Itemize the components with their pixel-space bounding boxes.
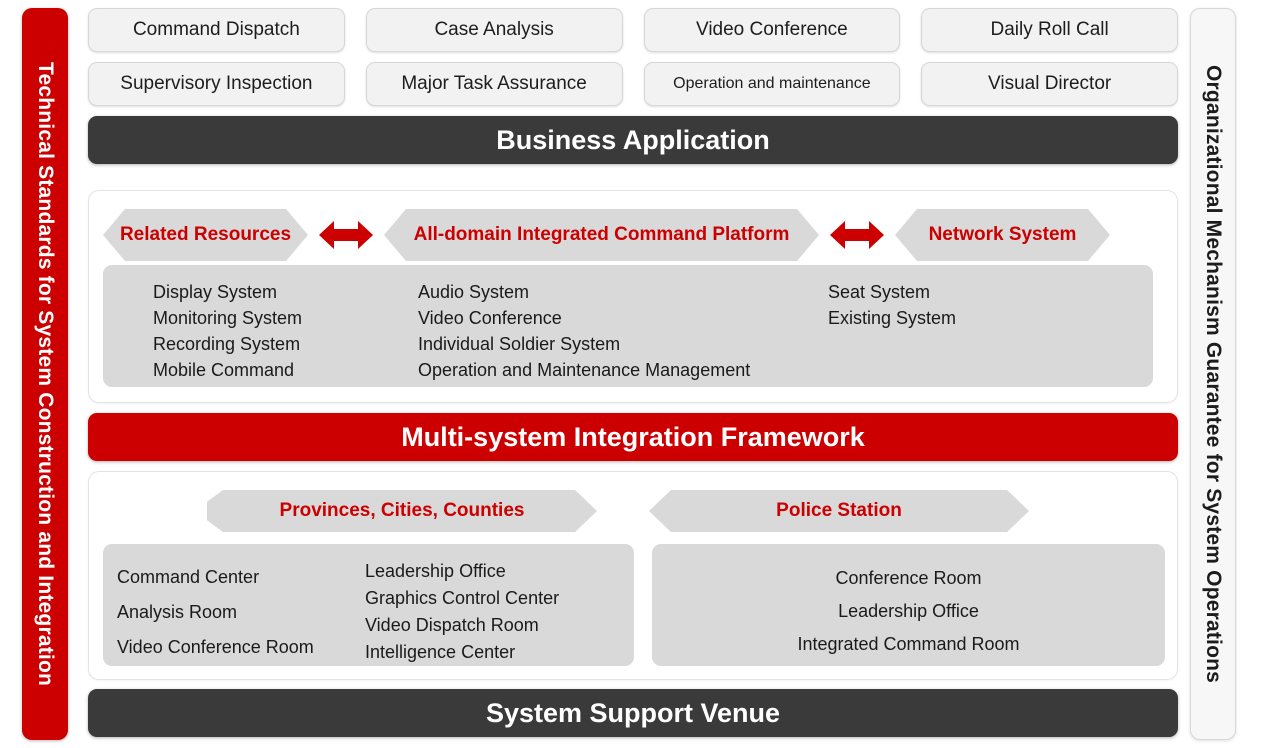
right-banner-label: Organizational Mechanism Guarantee for S… — [1201, 65, 1225, 683]
tag-provinces-cities-counties[interactable]: Provinces, Cities, Counties — [207, 490, 597, 532]
list-item: Display System — [153, 279, 302, 305]
list-item: Intelligence Center — [365, 639, 559, 666]
left-vertical-banner: Technical Standards for System Construct… — [22, 8, 68, 740]
arrow-slot-right — [819, 218, 895, 252]
platform-systems-card: Display System Monitoring System Recordi… — [103, 265, 1153, 387]
list-item: Leadership Office — [838, 595, 979, 628]
left-banner-label: Technical Standards for System Construct… — [33, 62, 57, 686]
list-item: Leadership Office — [365, 558, 559, 585]
tag-all-domain-platform[interactable]: All-domain Integrated Command Platform — [384, 209, 819, 261]
list-item: Conference Room — [835, 562, 981, 595]
list-item: Video Conference Room — [117, 630, 314, 665]
list-item: Command Center — [117, 560, 314, 595]
list-item: Operation and Maintenance Management — [418, 357, 750, 383]
list-item: Recording System — [153, 331, 302, 357]
list-item: Existing System — [828, 305, 956, 331]
tag-police-station[interactable]: Police Station — [649, 490, 1029, 532]
band-multi-system-framework: Multi-system Integration Framework — [88, 413, 1178, 461]
tag-related-resources[interactable]: Related Resources — [103, 209, 308, 261]
platform-column-2: Audio System Video Conference Individual… — [418, 279, 750, 383]
chip-daily-roll-call[interactable]: Daily Roll Call — [921, 8, 1178, 52]
list-item: Video Dispatch Room — [365, 612, 559, 639]
double-arrow-icon-right — [830, 218, 884, 252]
chip-visual-director[interactable]: Visual Director — [921, 62, 1178, 106]
platform-section-panel: Related Resources All-domain Integrated … — [88, 190, 1178, 403]
chip-operation-and-maintenance[interactable]: Operation and maintenance — [644, 62, 901, 106]
right-vertical-banner: Organizational Mechanism Guarantee for S… — [1190, 8, 1236, 740]
list-item: Graphics Control Center — [365, 585, 559, 612]
chip-major-task-assurance[interactable]: Major Task Assurance — [366, 62, 623, 106]
platform-tag-row: Related Resources All-domain Integrated … — [103, 209, 1165, 261]
tag-network-system[interactable]: Network System — [895, 209, 1110, 261]
list-item: Analysis Room — [117, 595, 314, 630]
venue-right-column: Conference Room Leadership Office Integr… — [652, 562, 1165, 661]
platform-column-1: Display System Monitoring System Recordi… — [153, 279, 302, 383]
arrow-slot-left — [308, 218, 384, 252]
chip-command-dispatch[interactable]: Command Dispatch — [88, 8, 345, 52]
list-item: Video Conference — [418, 305, 750, 331]
platform-systems-columns: Display System Monitoring System Recordi… — [103, 277, 1153, 387]
list-item: Individual Soldier System — [418, 331, 750, 357]
double-arrow-icon-left — [319, 218, 373, 252]
list-item: Audio System — [418, 279, 750, 305]
application-chip-row-1: Command Dispatch Case Analysis Video Con… — [88, 8, 1178, 52]
chip-case-analysis[interactable]: Case Analysis — [366, 8, 623, 52]
chip-supervisory-inspection[interactable]: Supervisory Inspection — [88, 62, 345, 106]
venue-left-card: Command Center Analysis Room Video Confe… — [103, 544, 634, 666]
list-item: Integrated Command Room — [797, 628, 1019, 661]
list-item: Monitoring System — [153, 305, 302, 331]
venue-left-column-1: Command Center Analysis Room Video Confe… — [117, 560, 314, 665]
platform-column-3: Seat System Existing System — [828, 279, 956, 331]
band-business-application: Business Application — [88, 116, 1178, 164]
diagram-center-column: Command Dispatch Case Analysis Video Con… — [88, 8, 1178, 740]
list-item: Mobile Command — [153, 357, 302, 383]
application-chip-row-2: Supervisory Inspection Major Task Assura… — [88, 62, 1178, 106]
venue-left-column-2: Leadership Office Graphics Control Cente… — [365, 558, 559, 666]
band-system-support-venue: System Support Venue — [88, 689, 1178, 737]
venue-right-card: Conference Room Leadership Office Integr… — [652, 544, 1165, 666]
list-item: Seat System — [828, 279, 956, 305]
venue-section-panel: Provinces, Cities, Counties Police Stati… — [88, 471, 1178, 680]
architecture-diagram: Technical Standards for System Construct… — [0, 0, 1268, 748]
chip-video-conference[interactable]: Video Conference — [644, 8, 901, 52]
